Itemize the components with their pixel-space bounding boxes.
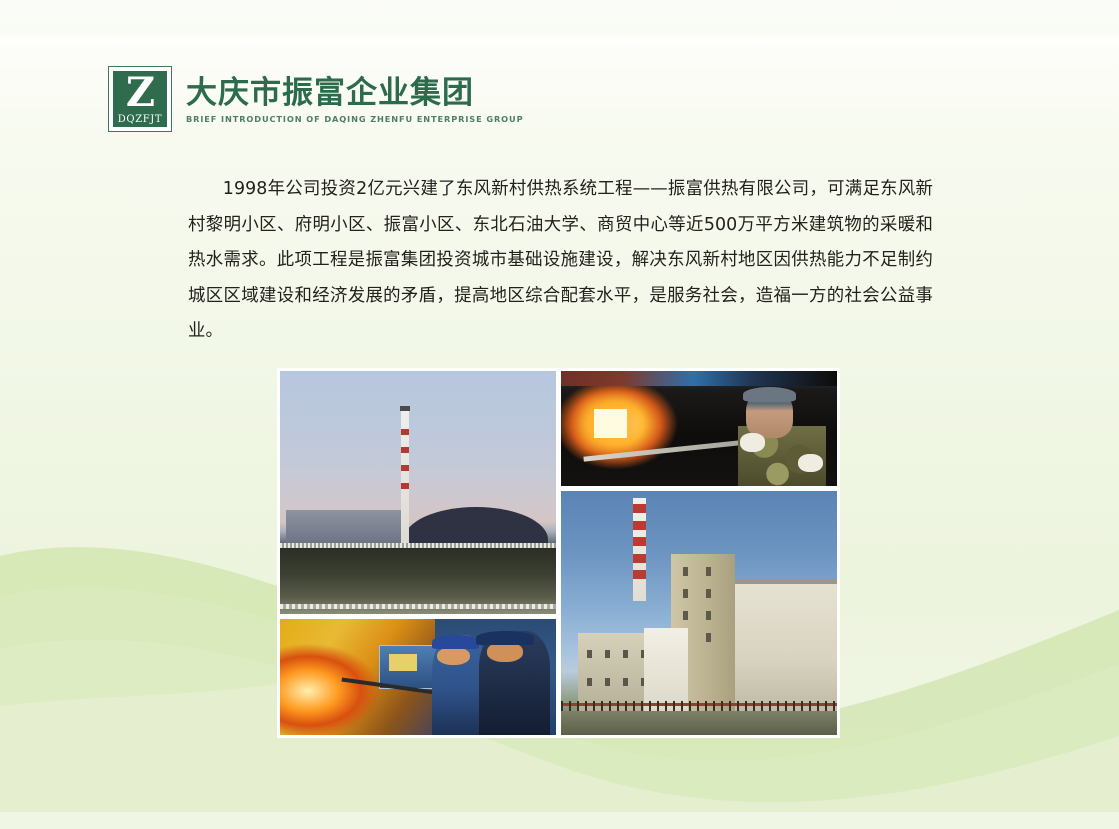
plant-low-building <box>286 510 402 544</box>
furnace-worker-cap <box>743 387 795 402</box>
furnace-worker-glove-left <box>740 433 765 451</box>
photo-operators-at-console <box>280 619 556 735</box>
slide-canvas: Z DQZFJT 大庆市振富企业集团 BRIEF INTRODUCTION OF… <box>0 0 1119 829</box>
boiler-ground <box>561 711 837 735</box>
operator-front-face <box>437 647 470 666</box>
boiler-white-wall <box>644 628 688 711</box>
page-title: 大庆市振富企业集团 <box>186 76 523 110</box>
collage-left-column <box>280 371 556 735</box>
operator-front-cap <box>432 635 479 649</box>
collage-right-column <box>561 371 837 735</box>
photo-collage <box>277 368 840 738</box>
operator-back-face <box>487 642 523 662</box>
title-block: 大庆市振富企业集团 BRIEF INTRODUCTION OF DAQING Z… <box>186 66 523 125</box>
plant-road <box>280 604 556 609</box>
company-logo: Z DQZFJT <box>108 66 172 132</box>
chimney-stack <box>401 410 409 549</box>
logo-abbreviation: DQZFJT <box>118 114 162 125</box>
operator-back-cap <box>476 631 534 645</box>
plant-dome-roof <box>404 507 548 546</box>
furnace-glow-opening <box>594 409 627 438</box>
logo-letter: Z <box>126 73 154 113</box>
boiler-hall <box>729 584 837 711</box>
top-divider-band <box>0 37 1119 44</box>
body-paragraph: 1998年公司投资2亿元兴建了东风新村供热系统工程——振富供热有限公司，可满足东… <box>188 172 933 350</box>
page-subtitle: BRIEF INTRODUCTION OF DAQING ZHENFU ENTE… <box>186 113 523 125</box>
zhenfu-z-logo-icon: Z DQZFJT <box>113 71 167 127</box>
photo-worker-at-furnace <box>561 371 837 486</box>
boiler-house-stack <box>633 498 646 600</box>
furnace-upper-structure <box>561 371 837 386</box>
photo-plant-exterior-dusk <box>280 371 556 614</box>
furnace-worker-glove-right <box>798 454 823 472</box>
slide-header: Z DQZFJT 大庆市振富企业集团 BRIEF INTRODUCTION OF… <box>108 66 523 132</box>
photo-boiler-house-daylight <box>561 491 837 735</box>
